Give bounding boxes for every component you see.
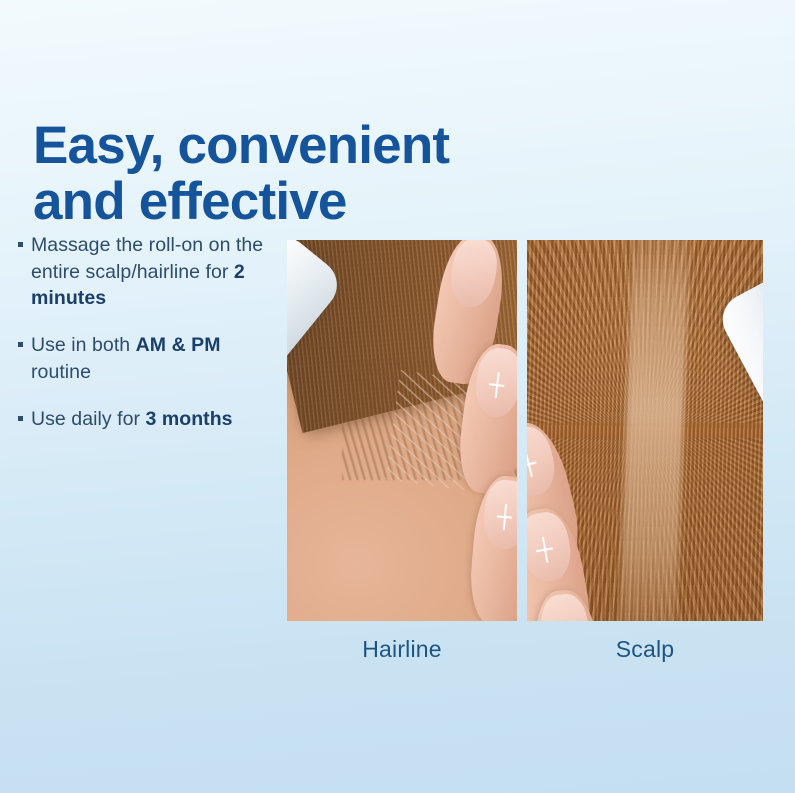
bullet-square-icon <box>18 242 23 247</box>
list-item: Use in both AM & PM routine <box>14 332 282 385</box>
list-item: Massage the roll-on on the entire scalp/… <box>14 232 282 312</box>
nail-art-icon <box>496 504 513 531</box>
page-title: Easy, convenient and effective <box>33 118 553 230</box>
instruction-text-massage: Massage the roll-on on the entire scalp/… <box>31 234 263 309</box>
nail-art-icon <box>534 536 554 565</box>
caption-hairline: Hairline <box>287 636 517 663</box>
promo-poster: Easy, convenient and effective Massage t… <box>0 0 795 793</box>
instruction-text-am-pm: Use in both AM & PM routine <box>31 334 221 383</box>
bullet-square-icon <box>18 342 23 347</box>
photo-hairline: wise <box>287 240 517 621</box>
instruction-text-duration: Use daily for 3 months <box>31 408 233 430</box>
fingernail <box>446 240 501 311</box>
photo-hairline-content: wise <box>287 240 517 621</box>
nail-art-icon <box>527 450 539 479</box>
photo-scalp <box>527 240 763 621</box>
caption-scalp: Scalp <box>527 636 763 663</box>
nail-art-icon <box>488 371 506 399</box>
list-item: Use daily for 3 months <box>14 406 282 433</box>
bullet-square-icon <box>18 416 23 421</box>
instruction-list: Massage the roll-on on the entire scalp/… <box>14 232 282 432</box>
photo-scalp-content <box>527 240 763 621</box>
fingernail <box>482 478 517 551</box>
fingernail <box>472 346 517 420</box>
